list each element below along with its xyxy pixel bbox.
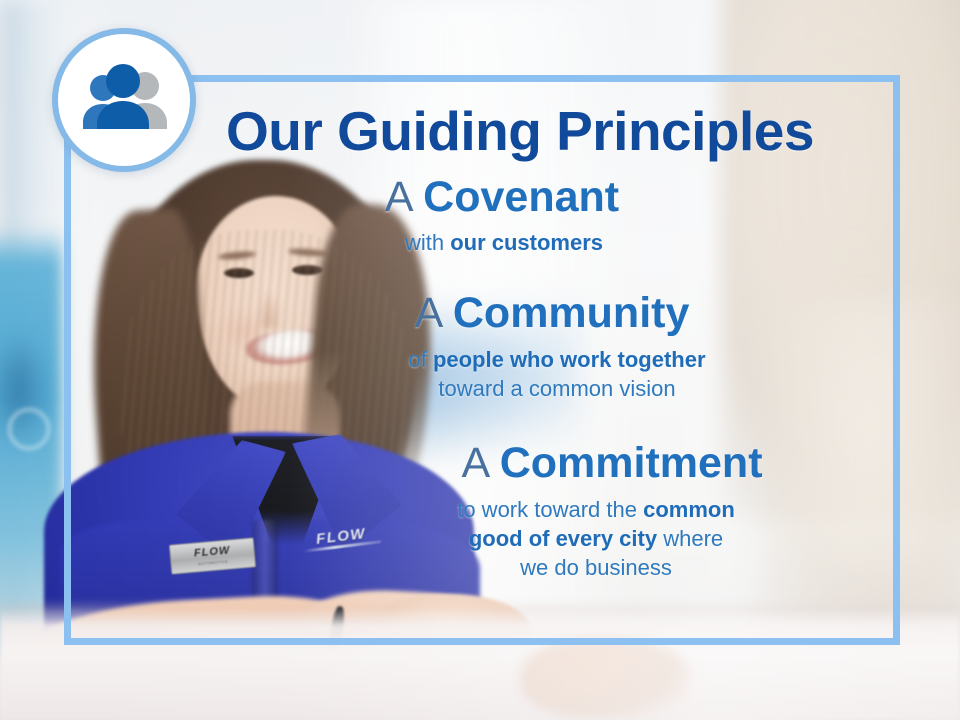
principle-article: A <box>461 439 487 487</box>
principle-subtext-line: we do business <box>366 553 826 582</box>
principles-content: Our Guiding Principles A Covenant with o… <box>64 75 900 645</box>
plain-text: toward a common vision <box>438 376 675 401</box>
principle-commitment: A Commitment to work toward the commongo… <box>98 441 866 582</box>
page-title: Our Guiding Principles <box>174 103 866 161</box>
plain-text: to work toward the <box>457 497 643 522</box>
principle-heading: A Covenant <box>138 175 866 221</box>
principle-subtext: of people who work togethertoward a comm… <box>248 345 866 403</box>
plain-text: of <box>408 347 432 372</box>
principle-heading: A Community <box>238 291 866 337</box>
principle-subtext-line: of people who work together <box>248 345 866 374</box>
blurred-car-emblem <box>8 408 50 450</box>
emphasis-text: common <box>643 497 735 522</box>
principle-keyword: Covenant <box>423 173 619 221</box>
principle-subtext: with our customers <box>142 228 866 257</box>
principle-keyword: Community <box>453 289 690 337</box>
principle-article: A <box>415 289 441 337</box>
principle-heading: A Commitment <box>358 441 866 487</box>
principle-keyword: Commitment <box>500 439 763 487</box>
emphasis-text: our customers <box>450 230 603 255</box>
poster-canvas: FLOW FLOW AUTOMOTIVE Our <box>0 0 960 720</box>
principle-subtext-line: toward a common vision <box>248 374 866 403</box>
principle-subtext: to work toward the commongood of every c… <box>366 495 826 582</box>
principle-article: A <box>385 173 411 221</box>
plain-text: we do business <box>520 555 672 580</box>
principle-subtext-line: to work toward the common <box>366 495 826 524</box>
emphasis-text: people who work together <box>433 347 706 372</box>
principle-subtext-line: with our customers <box>142 228 866 257</box>
customer-hand <box>520 638 690 720</box>
emphasis-text: good of every city <box>469 526 657 551</box>
principle-community: A Community of people who work togethert… <box>98 291 866 403</box>
principle-subtext-line: good of every city where <box>366 524 826 553</box>
principle-covenant: A Covenant with our customers <box>98 175 866 258</box>
plain-text: with <box>405 230 450 255</box>
plain-text: where <box>657 526 723 551</box>
